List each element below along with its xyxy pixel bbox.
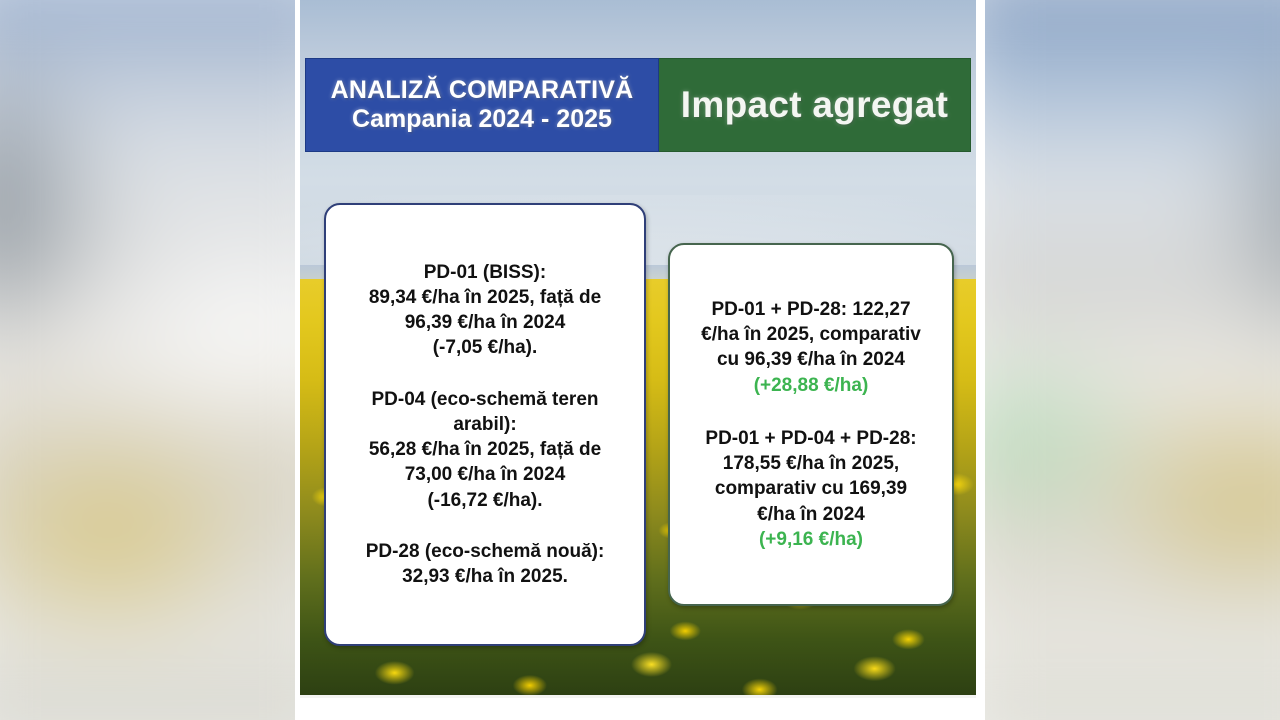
pd-04-line-4: 73,00 €/ha în 2024 xyxy=(369,462,601,487)
card-impact-agregat: PD-01 + PD-28: 122,27 €/ha în 2025, comp… xyxy=(668,243,954,606)
banner-title-line-1: ANALIZĂ COMPARATIVĂ xyxy=(331,76,634,105)
pd-01-line-2: 89,34 €/ha în 2025, față de xyxy=(369,285,601,310)
backdrop-right-gradient xyxy=(985,0,1280,720)
block-pd01-pd28: PD-01 + PD-28: 122,27 €/ha în 2025, comp… xyxy=(701,297,921,398)
blurred-backdrop-left xyxy=(0,0,295,720)
pd01-pd04-pd28-line-2: 178,55 €/ha în 2025, xyxy=(705,451,916,476)
pd01-pd28-line-1: PD-01 + PD-28: 122,27 xyxy=(701,297,921,322)
backdrop-left-gradient xyxy=(0,0,295,720)
block-pd-28: PD-28 (eco-schemă nouă): 32,93 €/ha în 2… xyxy=(366,539,605,590)
pd01-pd28-line-3: cu 96,39 €/ha în 2024 xyxy=(701,347,921,372)
poster-image: ANALIZĂ COMPARATIVĂ Campania 2024 - 2025… xyxy=(300,0,976,698)
pd-28-line-2: 32,93 €/ha în 2025. xyxy=(366,564,605,589)
pd-01-line-1: PD-01 (BISS): xyxy=(369,260,601,285)
pd-04-line-3: 56,28 €/ha în 2025, față de xyxy=(369,437,601,462)
card-detalii-scheme: PD-01 (BISS): 89,34 €/ha în 2025, față d… xyxy=(324,203,646,646)
blurred-backdrop-right xyxy=(985,0,1280,720)
pd-04-line-5: (-16,72 €/ha). xyxy=(369,488,601,513)
pd01-pd04-pd28-delta: (+9,16 €/ha) xyxy=(705,527,916,552)
pd01-pd04-pd28-line-3: comparativ cu 169,39 xyxy=(705,476,916,501)
pd01-pd28-delta: (+28,88 €/ha) xyxy=(701,373,921,398)
banner-analiza-comparativa: ANALIZĂ COMPARATIVĂ Campania 2024 - 2025 xyxy=(305,58,659,152)
poster-bottom-strip xyxy=(300,695,976,698)
pd01-pd04-pd28-line-4: €/ha în 2024 xyxy=(705,502,916,527)
pd-28-line-1: PD-28 (eco-schemă nouă): xyxy=(366,539,605,564)
block-pd-04: PD-04 (eco-schemă teren arabil): 56,28 €… xyxy=(369,387,601,513)
pd-01-line-4: (-7,05 €/ha). xyxy=(369,335,601,360)
block-pd-01: PD-01 (BISS): 89,34 €/ha în 2025, față d… xyxy=(369,260,601,361)
pd-01-line-3: 96,39 €/ha în 2024 xyxy=(369,310,601,335)
banner-impact-agregat: Impact agregat xyxy=(659,58,971,152)
pd-04-line-1: PD-04 (eco-schemă teren xyxy=(369,387,601,412)
banner-title-line-2: Campania 2024 - 2025 xyxy=(352,105,612,134)
pd-04-line-2: arabil): xyxy=(369,412,601,437)
pd01-pd28-line-2: €/ha în 2025, comparativ xyxy=(701,322,921,347)
block-pd01-pd04-pd28: PD-01 + PD-04 + PD-28: 178,55 €/ha în 20… xyxy=(705,426,916,552)
header-banner-row: ANALIZĂ COMPARATIVĂ Campania 2024 - 2025… xyxy=(305,58,971,152)
pd01-pd04-pd28-line-1: PD-01 + PD-04 + PD-28: xyxy=(705,426,916,451)
screenshot-viewport: ANALIZĂ COMPARATIVĂ Campania 2024 - 2025… xyxy=(0,0,1280,720)
